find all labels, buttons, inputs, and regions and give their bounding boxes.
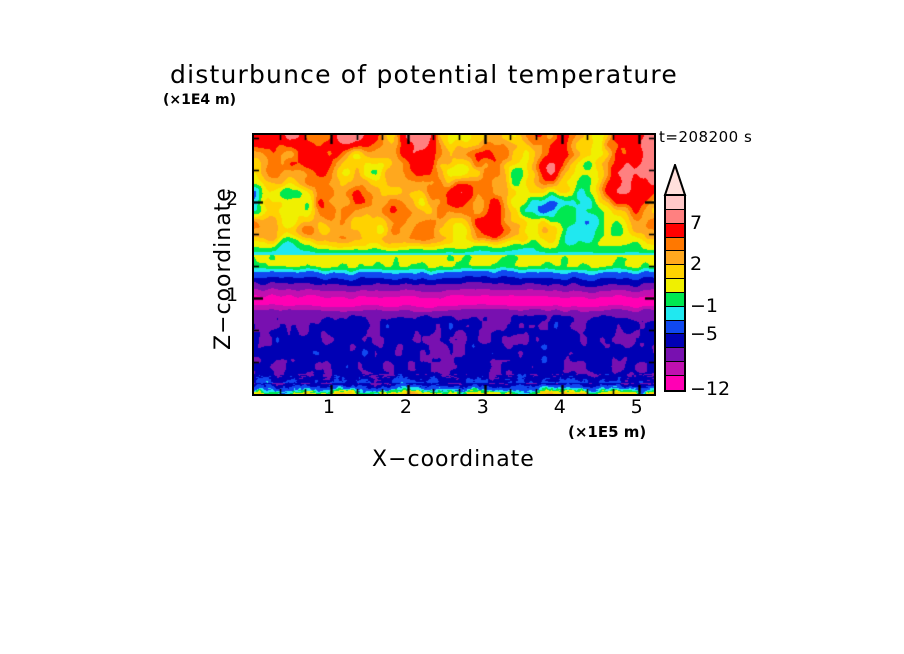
colorbar-tick-label: 7 [690, 212, 702, 234]
x-tick-label: 1 [323, 396, 335, 418]
colorbar-band [666, 293, 684, 307]
x-axis-unit-label: (×1E5 m) [568, 423, 646, 441]
colorbar-band [666, 307, 684, 321]
page-title: disturbunce of potential temperature [170, 60, 678, 89]
x-tick-label: 3 [477, 396, 489, 418]
colorbar-band [666, 238, 684, 252]
colorbar-band [666, 210, 684, 224]
colorbar-band [666, 279, 684, 293]
colorbar-band [666, 224, 684, 238]
colorbar-tick-label: 2 [690, 253, 702, 275]
figure-canvas: disturbunce of potential temperature (×1… [0, 0, 904, 654]
colorbar-bands [664, 194, 686, 392]
colorbar-band [666, 196, 684, 210]
colorbar-band [666, 376, 684, 390]
x-tick-label: 5 [631, 396, 643, 418]
contour-plot-area [252, 133, 656, 396]
colorbar-band [666, 334, 684, 348]
x-tick-label: 2 [400, 396, 412, 418]
colorbar-band [666, 251, 684, 265]
colorbar-tick-label: −5 [690, 323, 718, 345]
contour-field [254, 135, 654, 394]
colorbar-band [666, 362, 684, 376]
x-tick-label: 4 [554, 396, 566, 418]
colorbar-arrow-tip [662, 164, 688, 196]
colorbar-tick-label: −12 [690, 378, 730, 400]
colorbar [662, 164, 688, 392]
x-axis-title: X−coordinate [372, 447, 535, 472]
y-axis-unit-label: (×1E4 m) [163, 92, 236, 108]
colorbar-tick-label: −1 [690, 295, 718, 317]
colorbar-band [666, 348, 684, 362]
time-annotation: t=208200 s [659, 128, 752, 146]
y-axis-title: Z−coordinate [211, 187, 236, 350]
colorbar-band [666, 321, 684, 335]
colorbar-band [666, 265, 684, 279]
